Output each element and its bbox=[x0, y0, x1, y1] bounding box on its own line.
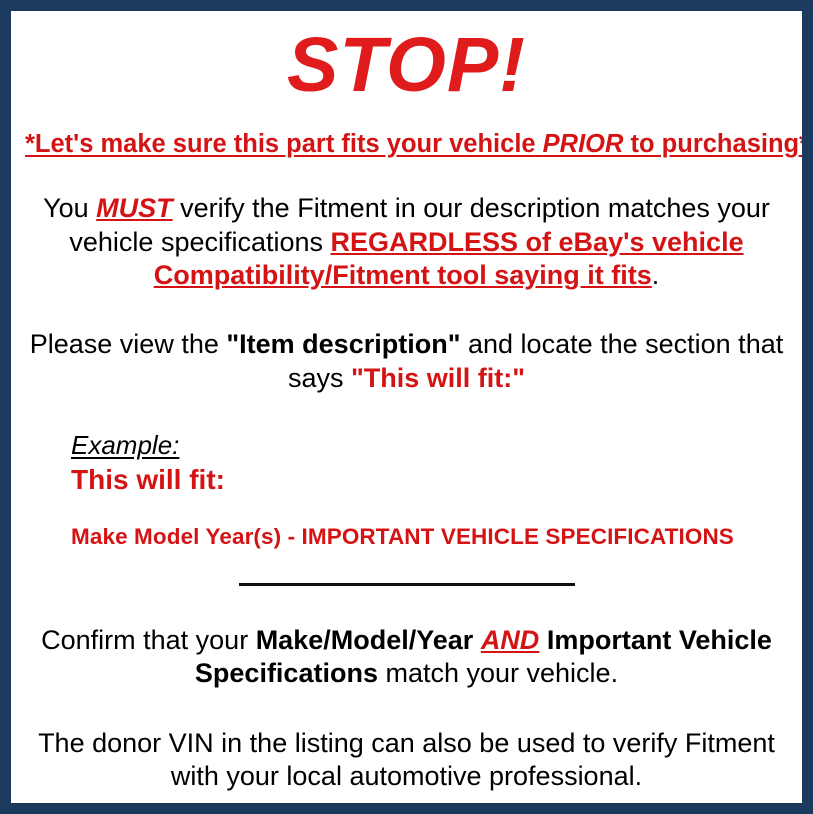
closing-thank-you: Thank you for confirming Fitment! bbox=[25, 794, 788, 814]
example-label: Example: bbox=[71, 431, 788, 461]
confirm-part-2: match your vehicle. bbox=[378, 658, 618, 688]
description-part-1: Please view the bbox=[30, 329, 227, 359]
paragraph-confirm-match: Confirm that your Make/Model/Year AND Im… bbox=[25, 594, 788, 691]
fitment-notice-card: STOP! *Let's make sure this part fits yo… bbox=[0, 0, 813, 814]
and-emphasis: AND bbox=[481, 625, 540, 655]
stop-headline: STOP! bbox=[25, 11, 788, 104]
paragraph-item-description: Please view the "Item description" and l… bbox=[25, 292, 788, 395]
paragraph-must-verify: You MUST verify the Fitment in our descr… bbox=[25, 158, 788, 292]
paragraph-donor-vin: The donor VIN in the listing can also be… bbox=[25, 691, 788, 794]
item-description-emphasis: "Item description" bbox=[226, 329, 460, 359]
subtitle-banner: *Let's make sure this part fits your veh… bbox=[25, 104, 788, 158]
this-will-fit-emphasis: "This will fit:" bbox=[351, 363, 525, 393]
must-part-3: . bbox=[652, 260, 660, 290]
make-model-year-emphasis: Make/Model/Year bbox=[256, 625, 474, 655]
must-part-1: You bbox=[43, 193, 96, 223]
example-fit-heading: This will fit: bbox=[71, 461, 788, 497]
example-block: Example: This will fit: Make Model Year(… bbox=[25, 395, 788, 549]
must-emphasis: MUST bbox=[96, 193, 173, 223]
subtitle-prefix: *Let's make sure this part fits your veh… bbox=[25, 130, 543, 158]
notice-inner-panel: STOP! *Let's make sure this part fits yo… bbox=[11, 11, 802, 803]
subtitle-suffix: to purchasing* bbox=[623, 130, 809, 158]
divider-container bbox=[25, 550, 788, 594]
example-spec-line: Make Model Year(s) - IMPORTANT VEHICLE S… bbox=[71, 497, 788, 550]
subtitle-emphasis-prior: PRIOR bbox=[543, 130, 624, 158]
confirm-part-1: Confirm that your bbox=[41, 625, 256, 655]
section-divider-rule bbox=[239, 583, 575, 586]
